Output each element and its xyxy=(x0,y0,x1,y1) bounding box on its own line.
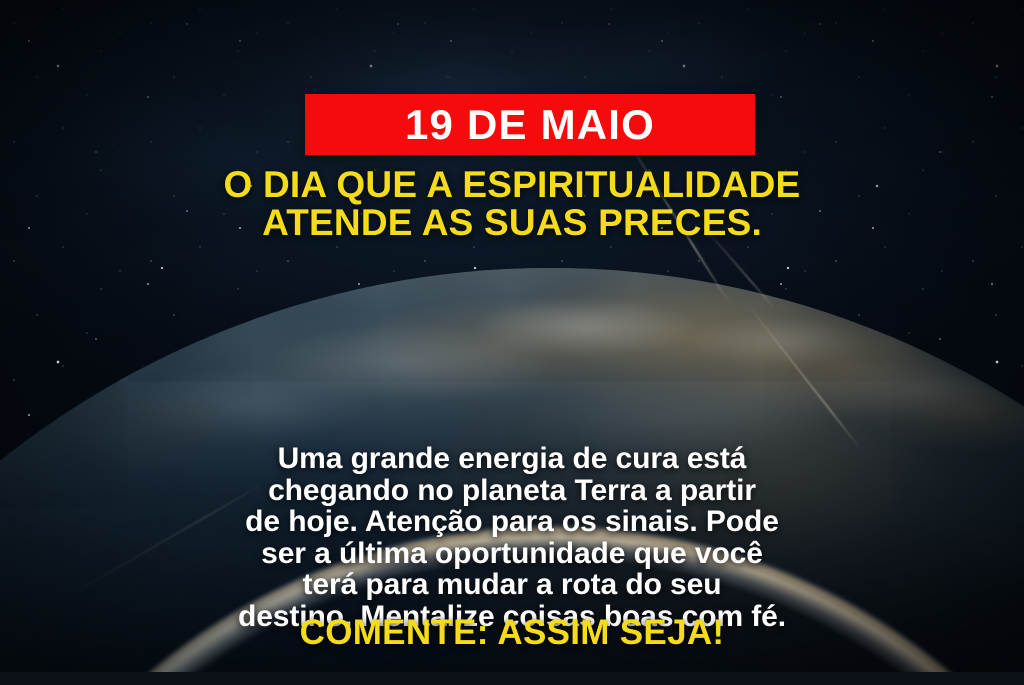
date-banner: 19 DE MAIO xyxy=(305,94,755,155)
body-line-2: chegando no planeta Terra a partir xyxy=(62,475,962,507)
date-banner-label: 19 DE MAIO xyxy=(405,104,655,146)
call-to-action-text: COMENTE: ASSIM SEJA! xyxy=(0,614,1024,652)
body-line-5: terá para mudar a rota do seu xyxy=(62,569,962,601)
body-line-3: de hoje. Atenção para os sinais. Pode xyxy=(62,506,962,538)
poster-canvas: 19 DE MAIO O DIA QUE A ESPIRITUALIDADE A… xyxy=(0,0,1024,685)
body-paragraph: Uma grande energia de cura está chegando… xyxy=(62,443,962,632)
body-line-1: Uma grande energia de cura está xyxy=(62,443,962,475)
headline-line-2: ATENDE AS SUAS PRECES. xyxy=(40,204,984,242)
poster-content: 19 DE MAIO O DIA QUE A ESPIRITUALIDADE A… xyxy=(0,0,1024,685)
body-line-4: ser a última oportunidade que você xyxy=(62,538,962,570)
headline-line-1: O DIA QUE A ESPIRITUALIDADE xyxy=(40,166,984,204)
headline: O DIA QUE A ESPIRITUALIDADE ATENDE AS SU… xyxy=(0,166,1024,242)
